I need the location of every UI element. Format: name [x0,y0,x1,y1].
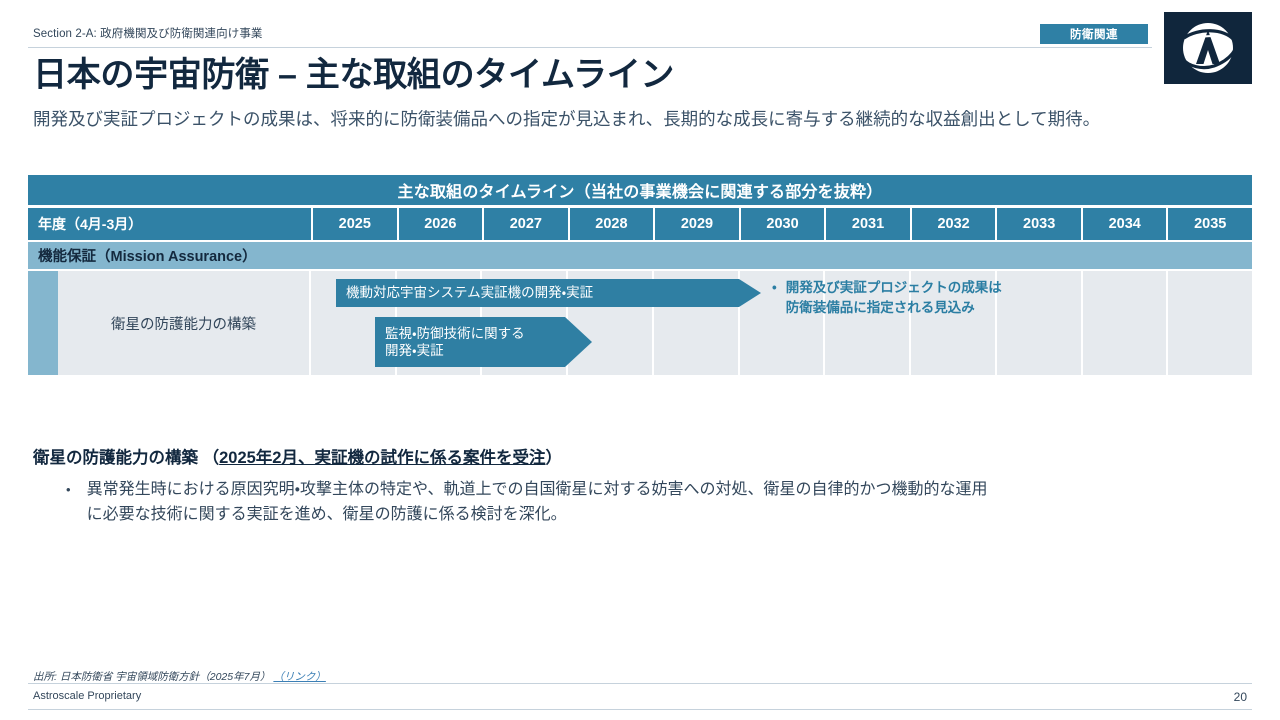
source-note-text: 出所: 日本防衛省 宇宙領域防衛方針（2025年7月） [33,671,270,683]
timeline-banner: 主な取組のタイムライン（当社の事業機会に関連する部分を抜粋） [28,175,1252,205]
astroscale-logo [1164,12,1252,84]
footer-divider [28,683,1252,684]
page-number: 20 [1234,690,1247,704]
timeline-group-label: 機能保証（Mission Assurance） [28,242,1252,269]
timeline-year-2033: 2033 [995,208,1081,240]
footer-divider-bottom [28,709,1252,710]
timeline-year-axis-label: 年度（4月-3月） [28,208,311,240]
timeline-year-2030: 2030 [739,208,825,240]
timeline-cell [823,271,909,375]
lower-bullet-item: • 異常発生時における原因究明・攻撃主体の特定や、軌道上での自国衛星に対する妨害… [66,478,1246,528]
bullet-marker-icon: • [66,478,71,528]
timeline-year-2026: 2026 [397,208,483,240]
slide-canvas: Section 2-A: 政府機関及び防衛関連向け事業 防衛関連 日本の宇宙防衛… [0,0,1280,720]
timeline-year-2027: 2027 [482,208,568,240]
status-badge: 防衛関連 [1040,24,1148,44]
timeline-row-label: 衛星の防護能力の構築 [58,271,311,375]
timeline-grid: 機動対応宇宙システム実証機の開発・実証 監視・防御技術に関する 開発・実証 • … [311,271,1252,375]
timeline-cell [1166,271,1252,375]
section-label: Section 2-A: 政府機関及び防衛関連向け事業 [33,25,263,41]
timeline-year-2028: 2028 [568,208,654,240]
timeline-year-2032: 2032 [910,208,996,240]
timeline-cell [395,271,481,375]
timeline-year-2035: 2035 [1166,208,1252,240]
lower-heading-plain: 衛星の防護能力の構築 （ [33,449,219,467]
timeline-year-2031: 2031 [824,208,910,240]
timeline-cell [566,271,652,375]
timeline-left-stripe [28,271,58,375]
page-subtitle: 開発及び実証プロジェクトの成果は、将来的に防衛装備品への指定が見込まれ、長期的な… [33,108,1100,131]
timeline-cell [1081,271,1167,375]
timeline-table: 主な取組のタイムライン（当社の事業機会に関連する部分を抜粋） 年度（4月-3月）… [28,175,1252,375]
lower-heading-close: ） [545,449,562,467]
timeline-year-2025: 2025 [311,208,397,240]
timeline-cell [480,271,566,375]
timeline-year-2029: 2029 [653,208,739,240]
footer-proprietary: Astroscale Proprietary [33,690,141,702]
page-title: 日本の宇宙防衛 – 主な取組のタイムライン [33,57,674,94]
source-note: 出所: 日本防衛省 宇宙領域防衛方針（2025年7月） （リンク） [33,669,326,684]
timeline-year-2034: 2034 [1081,208,1167,240]
timeline-cell [652,271,738,375]
timeline-cell [995,271,1081,375]
timeline-cell [738,271,824,375]
timeline-body: 衛星の防護能力の構築 [28,271,1252,375]
timeline-cell [311,271,395,375]
lower-bullet-text: 異常発生時における原因究明・攻撃主体の特定や、軌道上での自国衛星に対する妨害への… [87,478,988,528]
source-link[interactable]: （リンク） [273,671,326,683]
timeline-header-row: 年度（4月-3月） 2025 2026 2027 2028 2029 2030 … [28,208,1252,240]
lower-heading: 衛星の防護能力の構築 （2025年2月、実証機の試作に係る案件を受注） [33,444,562,468]
timeline-cell [909,271,995,375]
lower-heading-underlined: 2025年2月、実証機の試作に係る案件を受注 [219,449,545,467]
